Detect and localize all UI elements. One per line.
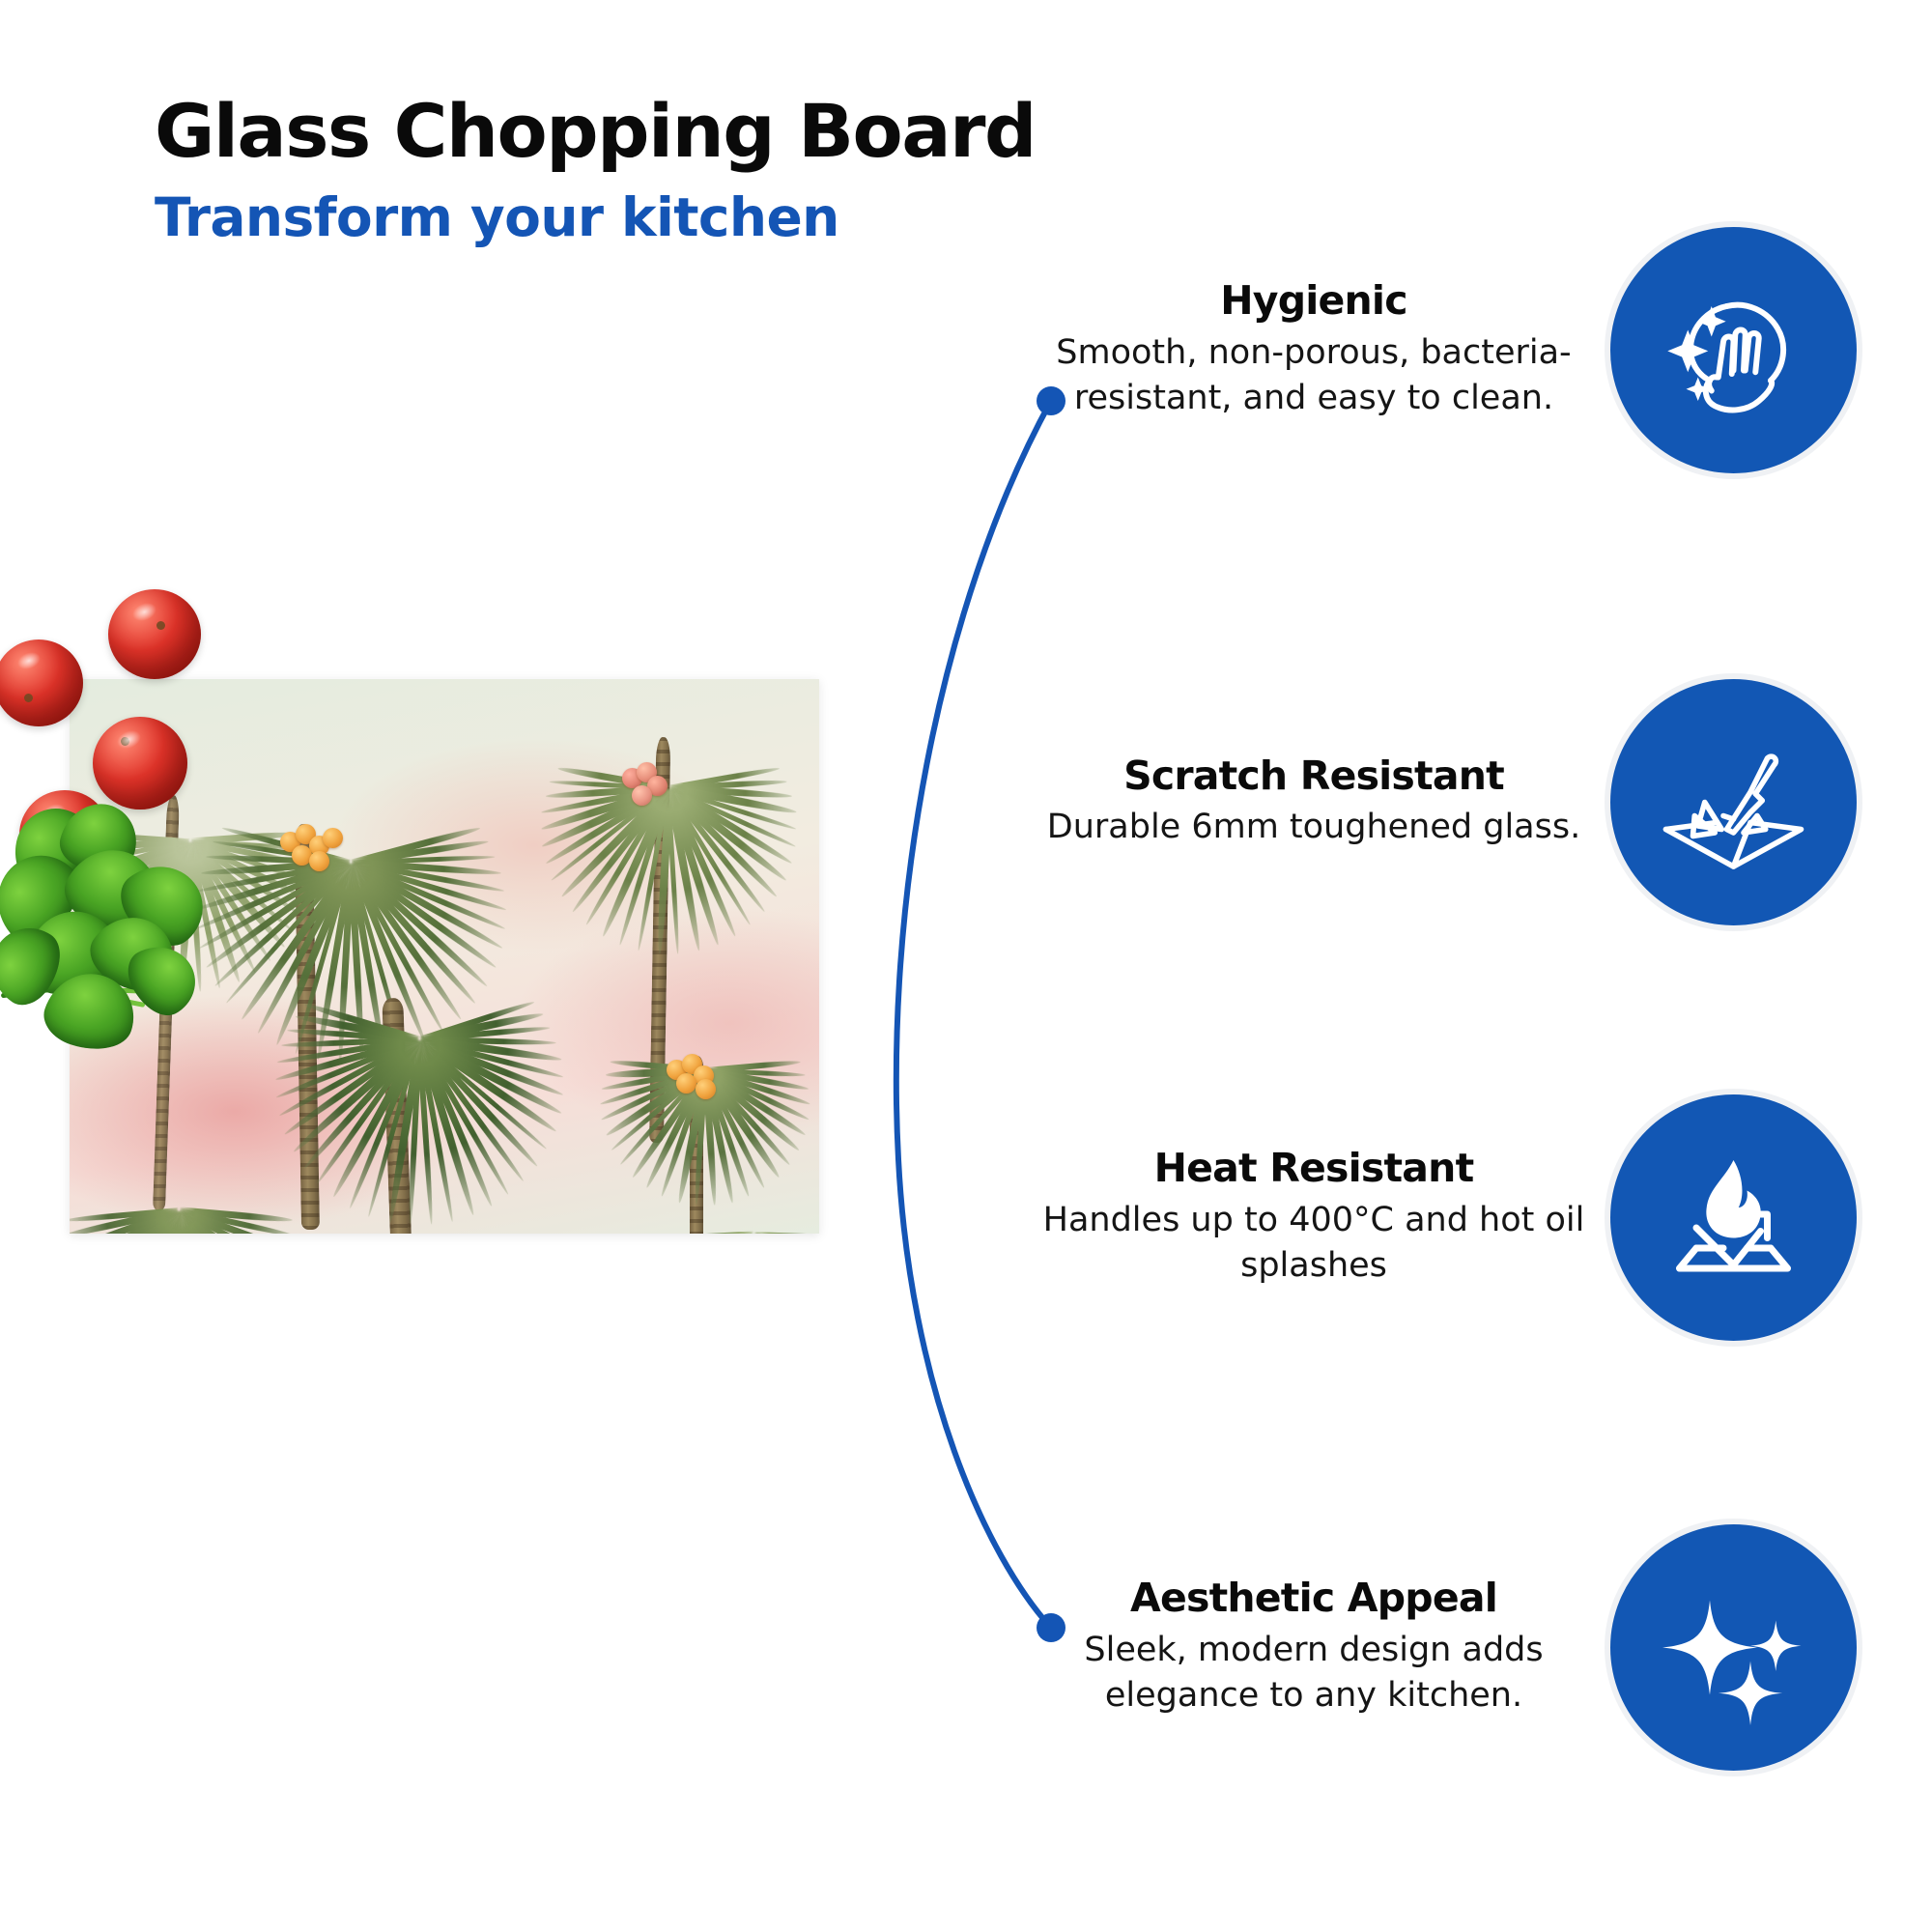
flame-deflect-surface-icon	[1610, 1094, 1857, 1341]
feature-title: Heat Resistant	[1024, 1146, 1604, 1192]
feature-scratch-resistant: Scratch Resistant Durable 6mm toughened …	[1024, 676, 1932, 927]
palm-crown	[70, 1065, 321, 1234]
feature-text: Hygienic Smooth, non-porous, bacteria-re…	[1024, 278, 1604, 420]
sparkles-icon	[1610, 1524, 1857, 1771]
cherry-tomato	[108, 589, 201, 679]
infographic-page: Glass Chopping Board Transform your kitc…	[0, 0, 1932, 1932]
feature-title: Aesthetic Appeal	[1024, 1576, 1604, 1622]
feature-heat-resistant: Heat Resistant Handles up to 400°C and h…	[1024, 1092, 1932, 1343]
feature-text: Aesthetic Appeal Sleek, modern design ad…	[1024, 1576, 1604, 1718]
feature-aesthetic-appeal: Aesthetic Appeal Sleek, modern design ad…	[1024, 1507, 1932, 1787]
feature-text: Scratch Resistant Durable 6mm toughened …	[1024, 753, 1604, 850]
feature-desc: Sleek, modern design adds elegance to an…	[1024, 1628, 1604, 1719]
feature-desc: Smooth, non-porous, bacteria-resistant, …	[1024, 330, 1604, 421]
feature-title: Hygienic	[1024, 278, 1604, 325]
icon-wrap	[1604, 679, 1862, 925]
feature-desc: Durable 6mm toughened glass.	[1024, 805, 1604, 850]
icon-wrap	[1604, 227, 1862, 473]
feature-desc: Handles up to 400°C and hot oil splashes	[1024, 1198, 1604, 1289]
coconut-cluster	[667, 1054, 734, 1098]
parsley-sprig	[0, 804, 305, 1045]
feature-title: Scratch Resistant	[1024, 753, 1604, 800]
icon-wrap	[1604, 1524, 1862, 1771]
feature-list: Hygienic Smooth, non-porous, bacteria-re…	[1024, 0, 1932, 1932]
sparkle-small	[1718, 1661, 1782, 1725]
header: Glass Chopping Board Transform your kitc…	[155, 93, 1036, 247]
coconut-cluster	[622, 762, 690, 807]
product-image	[0, 599, 869, 1352]
hand-wipe-sparkle-icon	[1610, 227, 1857, 473]
palm-crown	[611, 1094, 819, 1234]
page-subtitle: Transform your kitchen	[155, 188, 1036, 248]
icon-wrap	[1604, 1094, 1862, 1341]
cherry-tomato	[93, 717, 187, 810]
sparkle-medium	[1750, 1620, 1802, 1671]
feature-hygienic: Hygienic Smooth, non-porous, bacteria-re…	[1024, 214, 1932, 485]
feature-text: Heat Resistant Handles up to 400°C and h…	[1024, 1146, 1604, 1288]
page-title: Glass Chopping Board	[155, 93, 1036, 171]
sparkle-large	[1662, 1600, 1757, 1694]
knife-impact-surface-icon	[1610, 679, 1857, 925]
